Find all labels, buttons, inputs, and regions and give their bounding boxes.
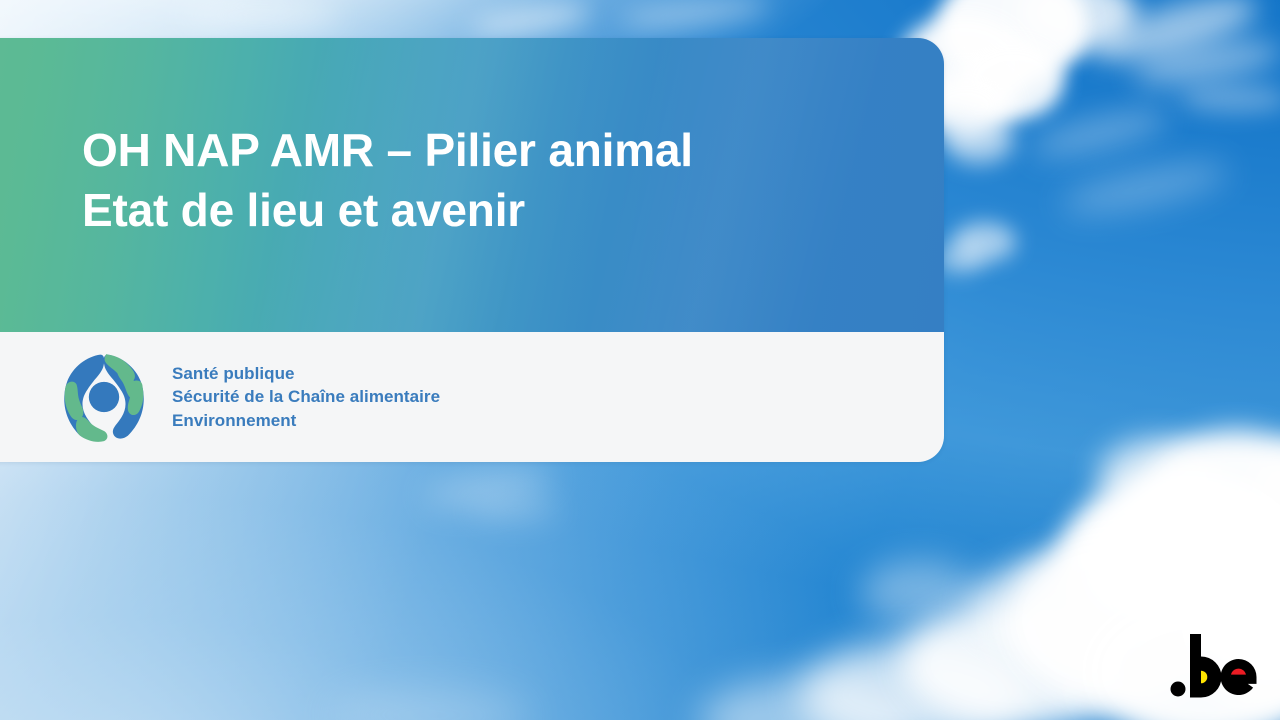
card-footer: Santé publique Sécurité de la Chaîne ali… xyxy=(0,332,944,462)
cloud-wisp xyxy=(1180,86,1280,112)
org-line-3: Environnement xyxy=(172,409,440,433)
cloud-puff xyxy=(944,116,1014,164)
org-line-1: Santé publique xyxy=(172,362,440,386)
organisation-logo: Santé publique Sécurité de la Chaîne ali… xyxy=(58,349,440,445)
title-card: OH NAP AMR – Pilier animal Etat de lieu … xyxy=(0,38,944,462)
page-title: OH NAP AMR – Pilier animal Etat de lieu … xyxy=(82,120,884,240)
title-line-1: OH NAP AMR – Pilier animal xyxy=(82,120,884,180)
organisation-name: Santé publique Sécurité de la Chaîne ali… xyxy=(172,362,440,433)
fps-health-circular-logo-icon xyxy=(58,349,150,445)
slide-canvas: OH NAP AMR – Pilier animal Etat de lieu … xyxy=(0,0,1280,720)
cloud-wisp xyxy=(180,4,340,26)
org-line-2: Sécurité de la Chaîne alimentaire xyxy=(172,385,440,409)
cloud-wisp xyxy=(470,498,560,522)
title-gradient-band: OH NAP AMR – Pilier animal Etat de lieu … xyxy=(0,38,944,332)
title-line-2: Etat de lieu et avenir xyxy=(82,180,884,240)
dot-be-belgium-logo-icon xyxy=(1168,632,1264,698)
